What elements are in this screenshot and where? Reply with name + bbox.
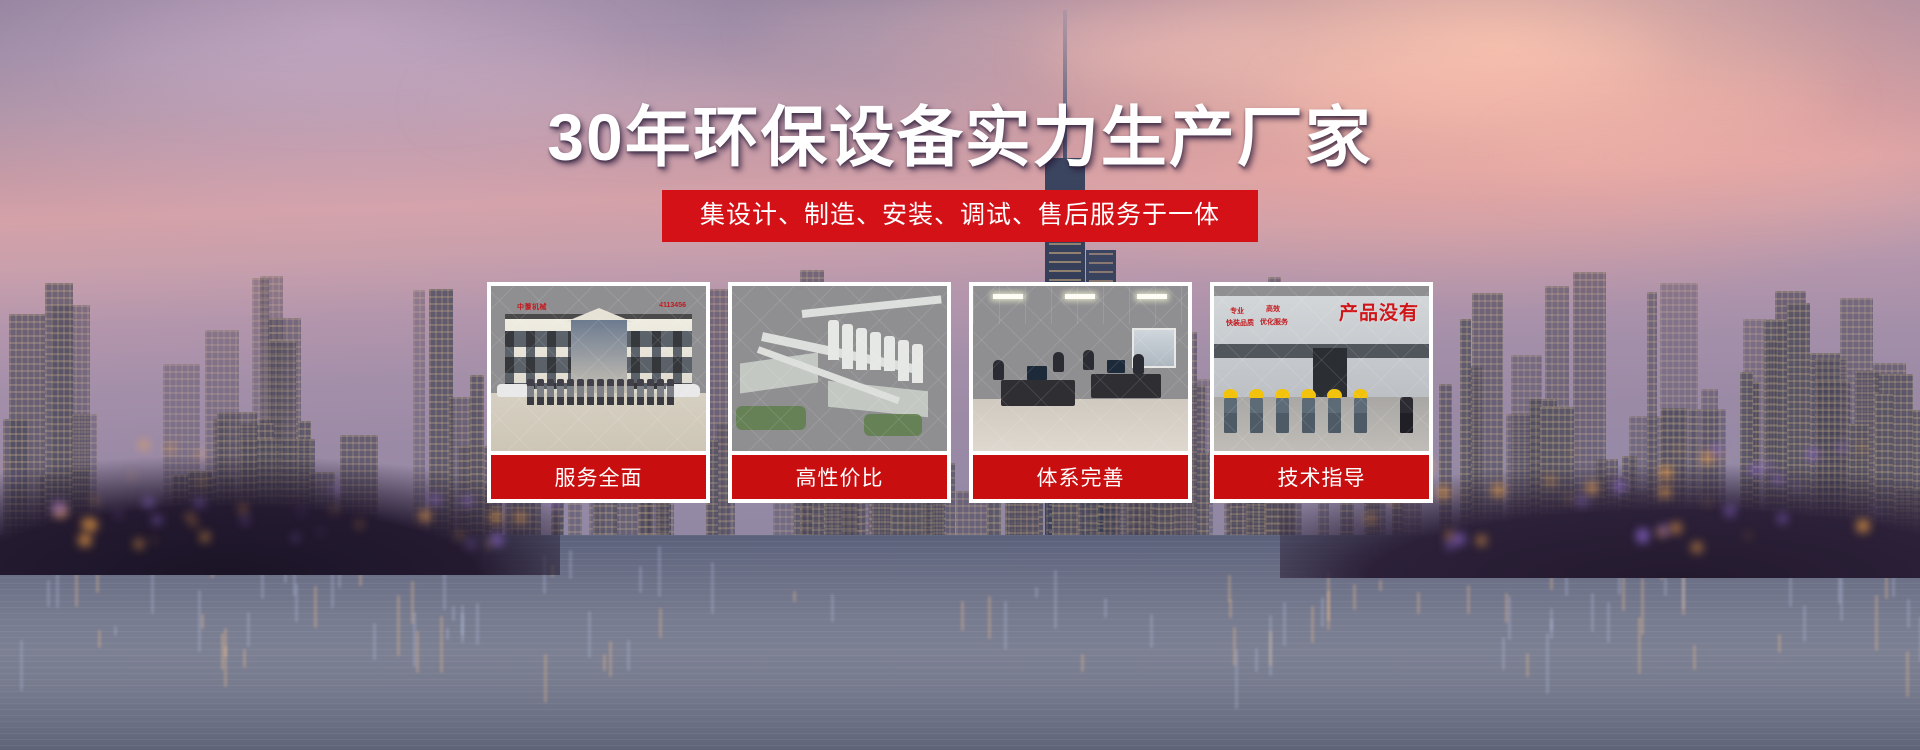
staff-member bbox=[547, 379, 554, 405]
staff-member bbox=[667, 379, 674, 405]
seated-person bbox=[1053, 352, 1064, 372]
factory-slogan-small: 高效 bbox=[1266, 306, 1280, 315]
ceiling-lamp bbox=[993, 294, 1023, 299]
lawn-area bbox=[864, 414, 922, 436]
subtitle-badge: 集设计、制造、安装、调试、售后服务于一体 bbox=[662, 190, 1258, 242]
seated-person bbox=[1133, 354, 1144, 374]
feature-card-list: 中蓍机械 4113456 服务全面 bbox=[0, 282, 1920, 503]
office-interior-staff-photo bbox=[973, 286, 1188, 451]
staff-member bbox=[627, 379, 634, 405]
subtitle-container: 集设计、制造、安装、调试、售后服务于一体 bbox=[0, 190, 1920, 242]
hard-hat-icon bbox=[1223, 389, 1238, 398]
feature-card-system[interactable]: 体系完善 bbox=[969, 282, 1192, 503]
hard-hat-icon bbox=[1275, 389, 1290, 398]
factory-workers-photo: 产品没有 专业 快装品质 高效 优化服务 bbox=[1214, 286, 1429, 451]
office-desk bbox=[1091, 374, 1161, 398]
supervisor-person bbox=[1400, 397, 1413, 433]
ceiling-lamp bbox=[1065, 294, 1095, 299]
feature-card-technical[interactable]: 产品没有 专业 快装品质 高效 优化服务 技术指导 bbox=[1210, 282, 1433, 503]
seated-person bbox=[993, 360, 1004, 380]
card-label: 高性价比 bbox=[732, 455, 947, 499]
staff-member bbox=[587, 379, 594, 405]
staff-member bbox=[537, 379, 544, 405]
feature-card-service[interactable]: 中蓍机械 4113456 服务全面 bbox=[487, 282, 710, 503]
conveyor-belt bbox=[802, 295, 942, 318]
ceiling-lamp bbox=[1137, 294, 1167, 299]
storage-silo bbox=[856, 328, 867, 370]
aerial-factory-plant-photo bbox=[732, 286, 947, 451]
worker-with-helmet bbox=[1302, 397, 1315, 433]
computer-monitor bbox=[1107, 360, 1125, 373]
factory-slogan-small: 优化服务 bbox=[1260, 319, 1288, 328]
worker-with-helmet bbox=[1276, 397, 1289, 433]
factory-slogan-small: 快装品质 bbox=[1226, 320, 1254, 329]
office-desk bbox=[1001, 380, 1075, 406]
card-label: 体系完善 bbox=[973, 455, 1188, 499]
company-phone-text: 4113456 bbox=[659, 302, 686, 309]
company-sign-text: 中蓍机械 bbox=[517, 302, 547, 312]
storage-silo bbox=[842, 324, 853, 369]
storage-silo bbox=[884, 336, 895, 371]
staff-member bbox=[617, 379, 624, 405]
hard-hat-icon bbox=[1353, 389, 1368, 398]
worker-with-helmet bbox=[1250, 397, 1263, 433]
card-label: 技术指导 bbox=[1214, 455, 1429, 499]
storage-silo bbox=[898, 340, 909, 381]
staff-member bbox=[527, 379, 534, 405]
staff-member bbox=[607, 379, 614, 405]
storage-silo bbox=[870, 332, 881, 370]
hard-hat-icon bbox=[1301, 389, 1316, 398]
staff-member bbox=[567, 379, 574, 405]
card-label: 服务全面 bbox=[491, 455, 706, 499]
factory-slogan-large: 产品没有 bbox=[1339, 298, 1419, 325]
seated-person bbox=[1083, 350, 1094, 370]
worker-with-helmet bbox=[1224, 397, 1237, 433]
storage-silo bbox=[828, 320, 839, 360]
office-floor bbox=[973, 399, 1188, 451]
factory-slogan-small: 专业 bbox=[1230, 308, 1244, 317]
parked-car bbox=[497, 384, 531, 397]
staff-member bbox=[647, 379, 654, 405]
computer-monitor bbox=[1027, 366, 1047, 380]
factory-ground bbox=[1214, 397, 1429, 451]
staff-member bbox=[577, 379, 584, 405]
staff-member bbox=[557, 379, 564, 405]
worker-with-helmet bbox=[1328, 397, 1341, 433]
office-ceiling bbox=[973, 286, 1188, 324]
staff-member bbox=[657, 379, 664, 405]
staff-member bbox=[597, 379, 604, 405]
worker-with-helmet bbox=[1354, 397, 1367, 433]
lawn-area bbox=[736, 406, 806, 430]
page-title: 30年环保设备实力生产厂家 bbox=[0, 104, 1920, 170]
company-office-building-photo: 中蓍机械 4113456 bbox=[491, 286, 706, 451]
storage-silo bbox=[912, 344, 923, 383]
hard-hat-icon bbox=[1249, 389, 1264, 398]
hard-hat-icon bbox=[1327, 389, 1342, 398]
staff-member bbox=[637, 379, 644, 405]
feature-card-value[interactable]: 高性价比 bbox=[728, 282, 951, 503]
plant-roof bbox=[828, 381, 928, 418]
hero-banner: 30年环保设备实力生产厂家 集设计、制造、安装、调试、售后服务于一体 中蓍机械 … bbox=[0, 0, 1920, 750]
